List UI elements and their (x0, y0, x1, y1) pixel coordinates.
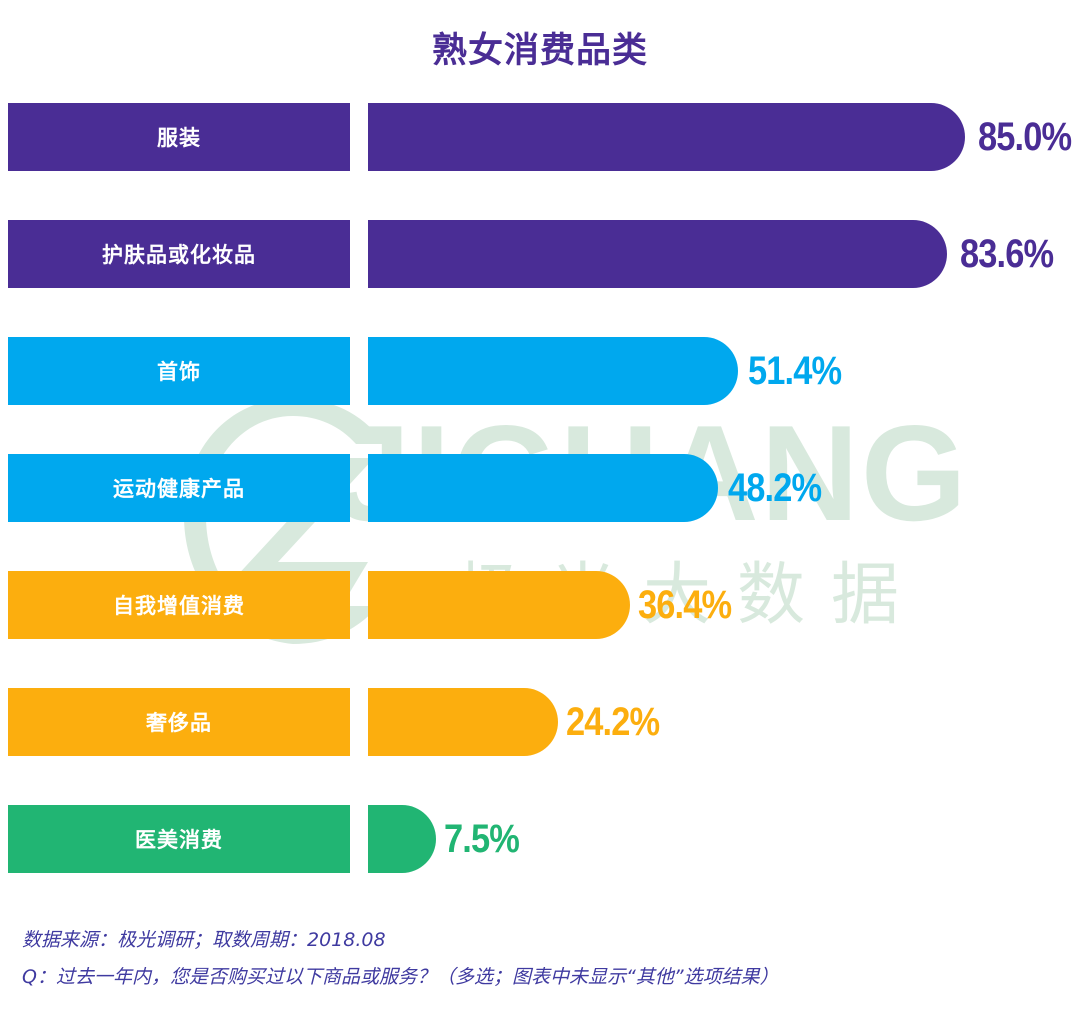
chart-row: 首饰 51.4% (0, 337, 1080, 405)
chart-row: 运动健康产品 48.2% (0, 454, 1080, 522)
category-label: 服装 (157, 122, 201, 152)
value-label: 83.6% (960, 220, 1053, 288)
chart-row: 奢侈品 24.2% (0, 688, 1080, 756)
value-bar (368, 103, 965, 171)
category-label: 运动健康产品 (113, 473, 245, 503)
chart-title: 熟女消费品类 (0, 22, 1080, 73)
bar-track (368, 103, 965, 171)
category-panel: 医美消费 (8, 805, 350, 873)
category-panel: 护肤品或化妆品 (8, 220, 350, 288)
category-label: 自我增值消费 (113, 590, 245, 620)
data-source-note: 数据来源：极光调研；取数周期：2018.08 (22, 925, 386, 952)
bar-track (368, 220, 947, 288)
value-bar (368, 805, 436, 873)
chart-row: 医美消费 7.5% (0, 805, 1080, 873)
value-bar (368, 454, 718, 522)
category-label: 医美消费 (135, 824, 223, 854)
survey-question-note: Q：过去一年内，您是否购买过以下商品或服务？（多选；图表中未显示“其他”选项结果… (22, 962, 779, 989)
category-panel: 首饰 (8, 337, 350, 405)
bar-track (368, 571, 630, 639)
value-label: 36.4% (638, 571, 731, 639)
value-bar (368, 220, 947, 288)
chart-row: 护肤品或化妆品 83.6% (0, 220, 1080, 288)
value-bar (368, 688, 558, 756)
value-label: 24.2% (566, 688, 659, 756)
value-bar (368, 337, 738, 405)
category-panel: 自我增值消费 (8, 571, 350, 639)
bar-track (368, 337, 738, 405)
category-label: 首饰 (157, 356, 201, 386)
category-panel: 服装 (8, 103, 350, 171)
chart-row: 自我增值消费 36.4% (0, 571, 1080, 639)
value-bar (368, 571, 630, 639)
value-label: 51.4% (748, 337, 841, 405)
value-label: 48.2% (728, 454, 821, 522)
bar-track (368, 805, 436, 873)
category-label: 奢侈品 (146, 707, 212, 737)
value-label: 7.5% (444, 805, 519, 873)
value-label: 85.0% (978, 103, 1071, 171)
bar-chart: 熟女消费品类 服装 85.0% 护肤品或化妆品 83.6% 首饰 51.4% 运… (0, 0, 1080, 1025)
bar-track (368, 454, 718, 522)
category-panel: 奢侈品 (8, 688, 350, 756)
category-panel: 运动健康产品 (8, 454, 350, 522)
chart-row: 服装 85.0% (0, 103, 1080, 171)
bar-track (368, 688, 558, 756)
category-label: 护肤品或化妆品 (102, 239, 256, 269)
